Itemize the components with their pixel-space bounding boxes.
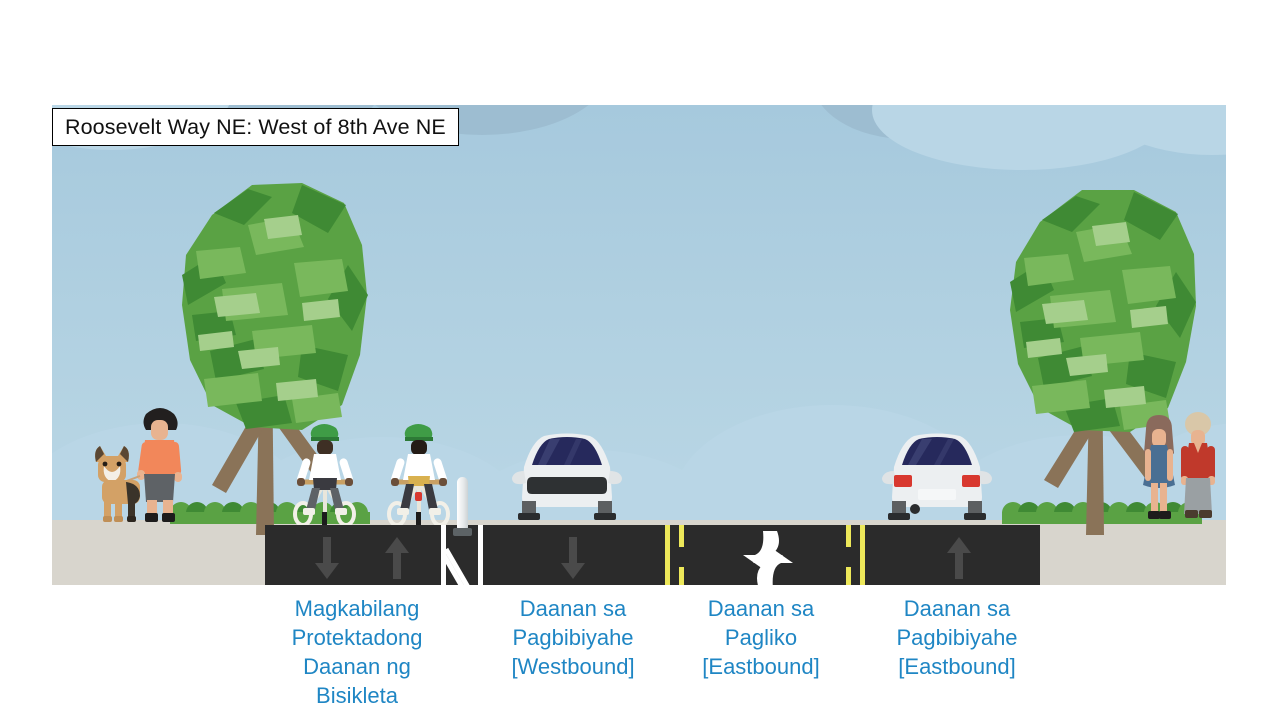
cyclist-westbound	[280, 420, 370, 530]
lane-label-eastbound: Daanan sa Pagbibiyahe [Eastbound]	[862, 594, 1052, 681]
lane-label-bike-line-2: Protektadong	[258, 623, 456, 652]
lane-label-westbound-line-3: [Westbound]	[478, 652, 668, 681]
yellow-dash-right-1	[846, 525, 851, 547]
lane-eastbound	[865, 525, 1040, 585]
yellow-solid-left	[665, 525, 670, 585]
page-root: Roosevelt Way NE: West of 8th Ave NE Mag…	[0, 0, 1280, 720]
street-cross-section-illustration	[52, 105, 1226, 585]
lane-label-center-turn-line-3: [Eastbound]	[666, 652, 856, 681]
lane-label-bike: Magkabilang Protektadong Daanan ng Bisik…	[258, 594, 456, 710]
lane-label-eastbound-line-2: Pagbibiyahe	[862, 623, 1052, 652]
yellow-dash-right-2	[846, 567, 851, 585]
lane-label-westbound-line-1: Daanan sa	[478, 594, 668, 623]
lane-label-center-turn: Daanan sa Pagliko [Eastbound]	[666, 594, 856, 681]
car-eastbound-rear	[872, 425, 1002, 530]
yellow-dash-left-2	[679, 567, 684, 585]
title-box: Roosevelt Way NE: West of 8th Ave NE	[52, 108, 459, 146]
lane-label-center-turn-line-2: Pagliko	[666, 623, 856, 652]
lane-label-eastbound-line-1: Daanan sa	[862, 594, 1052, 623]
pedestrian-with-dog	[84, 400, 214, 525]
cyclist-eastbound	[374, 420, 464, 530]
page-title: Roosevelt Way NE: West of 8th Ave NE	[65, 115, 446, 140]
lane-label-westbound-line-2: Pagbibiyahe	[478, 623, 668, 652]
lane-center-turn	[665, 525, 865, 585]
roadway	[265, 525, 1040, 585]
lane-label-center-turn-line-1: Daanan sa	[666, 594, 856, 623]
pedestrian-man	[1172, 410, 1224, 525]
lane-label-bike-line-1: Magkabilang	[258, 594, 456, 623]
lane-bike	[265, 525, 425, 585]
arrow-up-eastbound	[945, 537, 973, 579]
yellow-dash-left-1	[679, 525, 684, 547]
lane-label-bike-line-4: Bisikleta	[258, 681, 456, 710]
lane-label-bike-line-3: Daanan ng	[258, 652, 456, 681]
flex-post	[457, 477, 468, 529]
arrow-down-bike	[313, 537, 341, 579]
car-westbound-front	[502, 425, 632, 530]
arrow-down-westbound	[559, 537, 587, 579]
lane-westbound	[483, 525, 665, 585]
lane-label-westbound: Daanan sa Pagbibiyahe [Westbound]	[478, 594, 668, 681]
right-turn-arrow	[751, 545, 821, 585]
lane-label-eastbound-line-3: [Eastbound]	[862, 652, 1052, 681]
arrow-up-bike	[383, 537, 411, 579]
